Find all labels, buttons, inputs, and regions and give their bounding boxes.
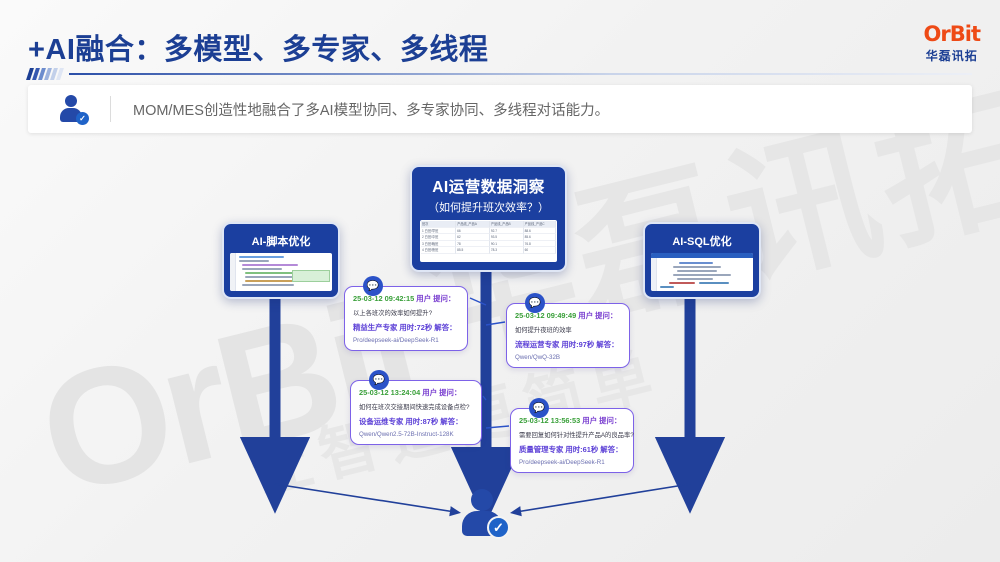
bubble-model-2: Qwen/QwQ-32B <box>515 354 621 361</box>
table-cell: 78.3 <box>490 247 524 254</box>
bubble-expert-2: 流程运营专家 用时:97秒 解答： <box>515 339 621 350</box>
bubble-question-3: 如何在班次交接期间快速完成设备点检? <box>359 402 473 411</box>
bubble-model-1: Pro/deepseek-ai/DeepSeek-R1 <box>353 337 459 344</box>
data-table-screenshot: 班次产品线_产品A产品线_产品B产品线_产品C1 白班/早班6692.788.6… <box>420 220 557 262</box>
node-title-script: AI-脚本优化 <box>230 230 332 253</box>
flow-arrows <box>0 0 1000 562</box>
node-title-insight: AI运营数据洞察 <box>420 175 557 197</box>
node-card-sql[interactable]: AI-SQL优化 <box>643 222 761 299</box>
bubble-model-4: Pro/deepseek-ai/DeepSeek-R1 <box>519 459 625 466</box>
arrow-sql-to-hub <box>516 484 690 512</box>
chat-icon: 💬 <box>363 276 383 296</box>
sql-editor-screenshot <box>651 253 753 291</box>
node-subtitle-insight: （如何提升班次效率？） <box>420 199 557 215</box>
chat-icon: 💬 <box>369 370 389 390</box>
bubble-question-2: 如何提升夜班的效率 <box>515 325 621 334</box>
table-cell: 85.5 <box>456 247 490 254</box>
bubble-model-3: Qwen/Qwen2.5-72B-Instruct-128K <box>359 431 473 438</box>
chat-icon: 💬 <box>525 293 545 313</box>
chat-bubble-4[interactable]: 💬 25-03-12 13:56:53 用户 提问： 需要回复如何针对性提升产品… <box>510 408 634 473</box>
bubble-expert-3: 设备运维专家 用时:87秒 解答： <box>359 416 473 427</box>
node-card-script[interactable]: AI-脚本优化 <box>222 222 340 299</box>
table-cell: 4 白班/夜班 <box>421 247 456 254</box>
hub-user-verified-icon: ✓ <box>458 487 510 539</box>
bubble-expert-4: 质量管理专家 用时:61秒 解答： <box>519 444 625 455</box>
bubble-question-1: 以上各班次的效率如何提升? <box>353 308 459 317</box>
chat-bubble-2[interactable]: 💬 25-03-12 09:49:49 用户 提问： 如何提升夜班的效率 流程运… <box>506 303 630 368</box>
bubble-expert-1: 精益生产专家 用时:72秒 解答： <box>353 322 459 333</box>
chat-bubble-1[interactable]: 💬 25-03-12 09:42:15 用户 提问： 以上各班次的效率如何提升?… <box>344 286 468 351</box>
chat-bubble-3[interactable]: 💬 25-03-12 13:24:04 用户 提问： 如何在班次交接期间快速完成… <box>350 380 482 445</box>
arrow-script-to-hub <box>275 484 455 512</box>
node-card-insight[interactable]: AI运营数据洞察 （如何提升班次效率？） 班次产品线_产品A产品线_产品B产品线… <box>410 165 567 272</box>
node-title-sql: AI-SQL优化 <box>651 230 753 253</box>
table-cell: 60 <box>524 247 556 254</box>
bubble-question-4: 需要回复如何针对性提升产品A的良品率? <box>519 430 625 439</box>
table-row: 4 白班/夜班85.578.360 <box>421 247 556 254</box>
insight-data-table: 班次产品线_产品A产品线_产品B产品线_产品C1 白班/早班6692.788.6… <box>420 220 557 262</box>
chat-icon: 💬 <box>529 398 549 418</box>
code-editor-screenshot <box>230 253 332 291</box>
